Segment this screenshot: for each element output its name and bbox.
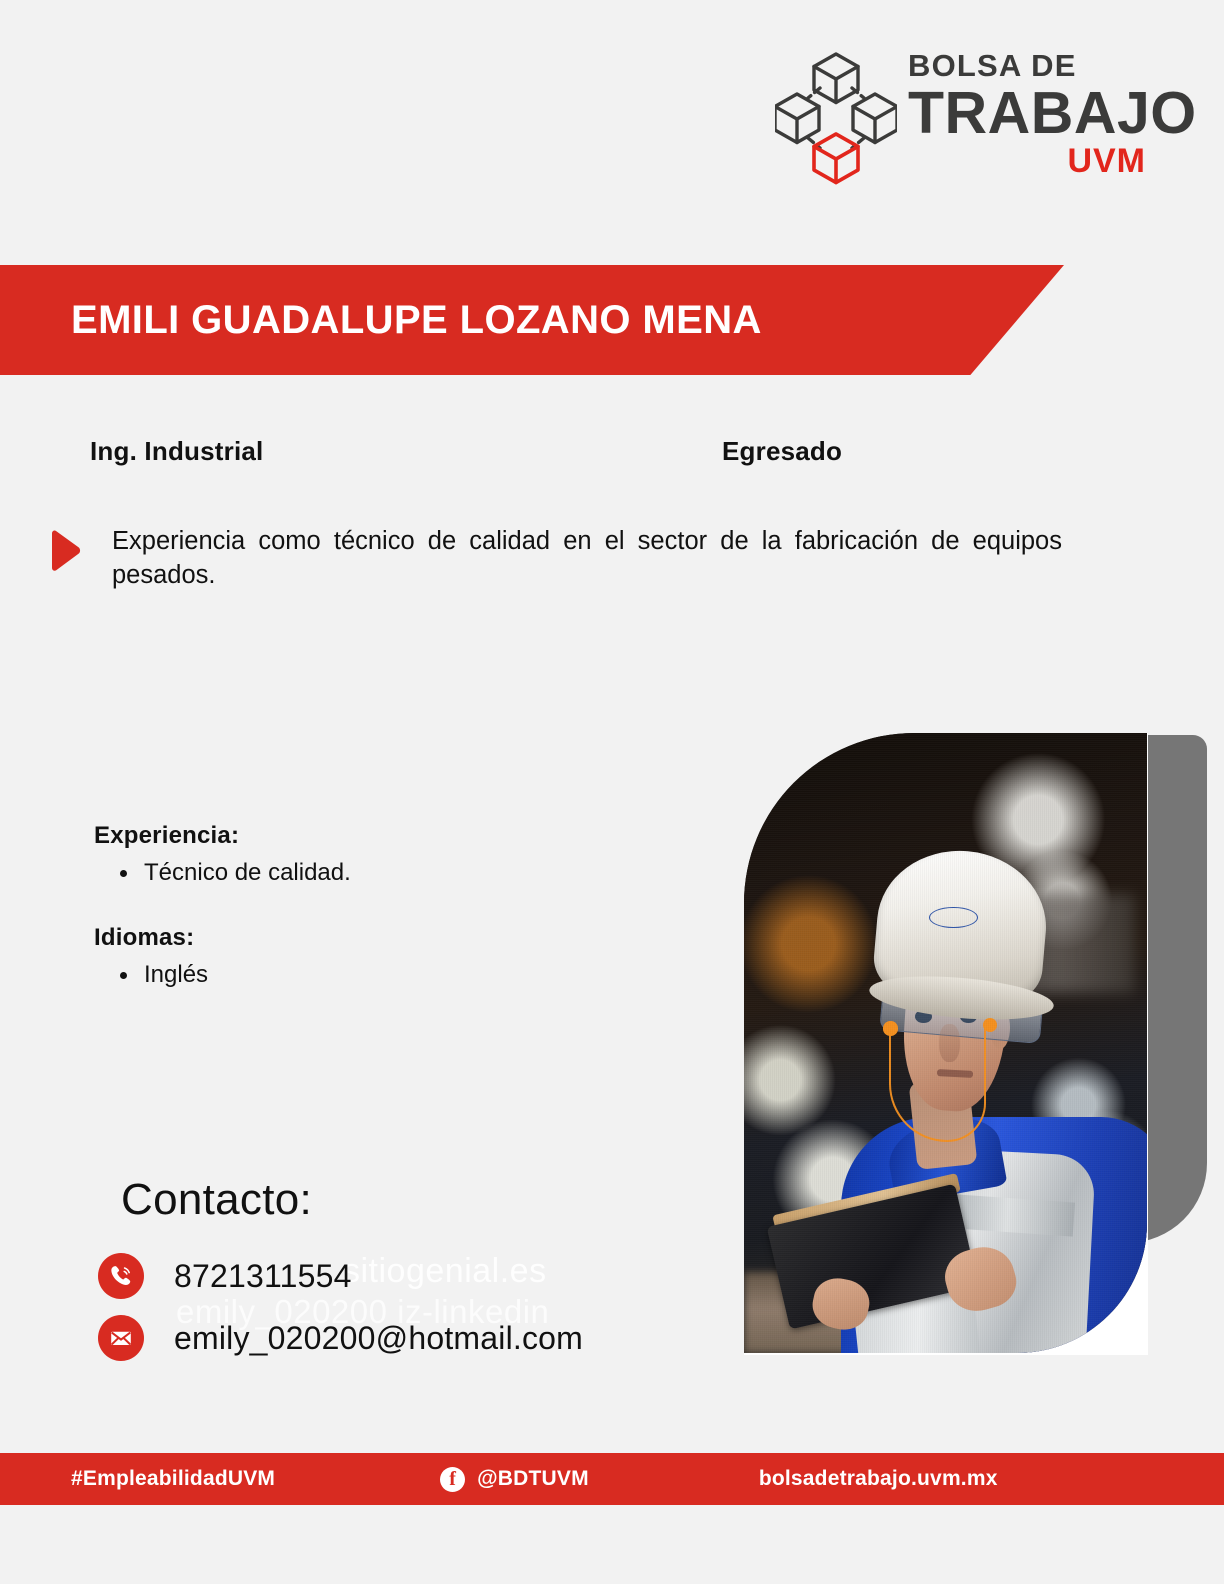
earplug-left: [883, 1021, 898, 1035]
headline-row: Ing. Industrial Egresado: [0, 436, 1224, 476]
bolsa-de-trabajo-uvm-logo: BOLSA DE TRABAJO UVM: [775, 48, 1145, 188]
candidate-name-banner: EMILI GUADALUPE LOZANO MENA: [0, 265, 1064, 375]
status-label: Egresado: [722, 436, 842, 467]
logo-line-bolsa-de: BOLSA DE: [908, 48, 1148, 84]
phone-icon: [98, 1253, 144, 1299]
logo-line-trabajo: TRABAJO: [908, 84, 1148, 142]
photo-zone: [700, 700, 1224, 1380]
blockchain-cubes-icon: [775, 50, 897, 186]
candidate-name: EMILI GUADALUPE LOZANO MENA: [0, 298, 762, 343]
footer-social-handle-label: @BDTUVM: [477, 1467, 589, 1491]
degree-label: Ing. Industrial: [90, 436, 263, 467]
phone-number[interactable]: 8721311554: [174, 1258, 352, 1295]
detail-list: Inglés: [94, 958, 634, 992]
email-address[interactable]: emily_020200@hotmail.com: [174, 1320, 583, 1357]
summary-text: Experiencia como técnico de calidad en e…: [112, 524, 1062, 592]
logo-wordmark: BOLSA DE TRABAJO UVM: [908, 48, 1148, 180]
logo-line-uvm: UVM: [908, 142, 1148, 180]
hard-hat-logo: [929, 907, 977, 928]
summary-block: Experiencia como técnico de calidad en e…: [48, 524, 1068, 592]
detail-group-experiencia: Experiencia: Técnico de calidad.: [94, 822, 634, 890]
candidate-photo: [744, 733, 1147, 1353]
footer-website[interactable]: bolsadetrabajo.uvm.mx: [759, 1467, 998, 1491]
contact-row-email[interactable]: emily_020200@hotmail.com emily_020200 iz…: [98, 1307, 698, 1369]
detail-list: Técnico de calidad.: [94, 856, 634, 890]
contact-section: Contacto: 8721311554 sitiogenial.es: [98, 1175, 698, 1369]
facebook-icon[interactable]: f: [440, 1467, 465, 1492]
detail-title: Experiencia:: [94, 822, 634, 850]
details-section: Experiencia: Técnico de calidad. Idiomas…: [94, 822, 634, 1026]
envelope-icon: [98, 1315, 144, 1361]
footer-hashtag: #EmpleabilidadUVM: [71, 1467, 275, 1491]
contact-row-phone[interactable]: 8721311554 sitiogenial.es: [98, 1245, 698, 1307]
list-item: Inglés: [94, 958, 634, 992]
cv-poster: BOLSA DE TRABAJO UVM EMILI GUADALUPE LOZ…: [0, 0, 1224, 1584]
list-item: Técnico de calidad.: [94, 856, 634, 890]
footer-bar: #EmpleabilidadUVM f @BDTUVM bolsadetraba…: [0, 1453, 1224, 1505]
watermark-phone: sitiogenial.es: [343, 1252, 547, 1291]
detail-title: Idiomas:: [94, 924, 634, 952]
footer-social-handle[interactable]: f @BDTUVM: [440, 1467, 589, 1492]
photo-scene: [744, 733, 1147, 1353]
play-arrow-icon: [48, 530, 82, 572]
contact-title: Contacto:: [121, 1175, 698, 1225]
facebook-glyph: f: [449, 1468, 456, 1490]
detail-group-idiomas: Idiomas: Inglés: [94, 924, 634, 992]
